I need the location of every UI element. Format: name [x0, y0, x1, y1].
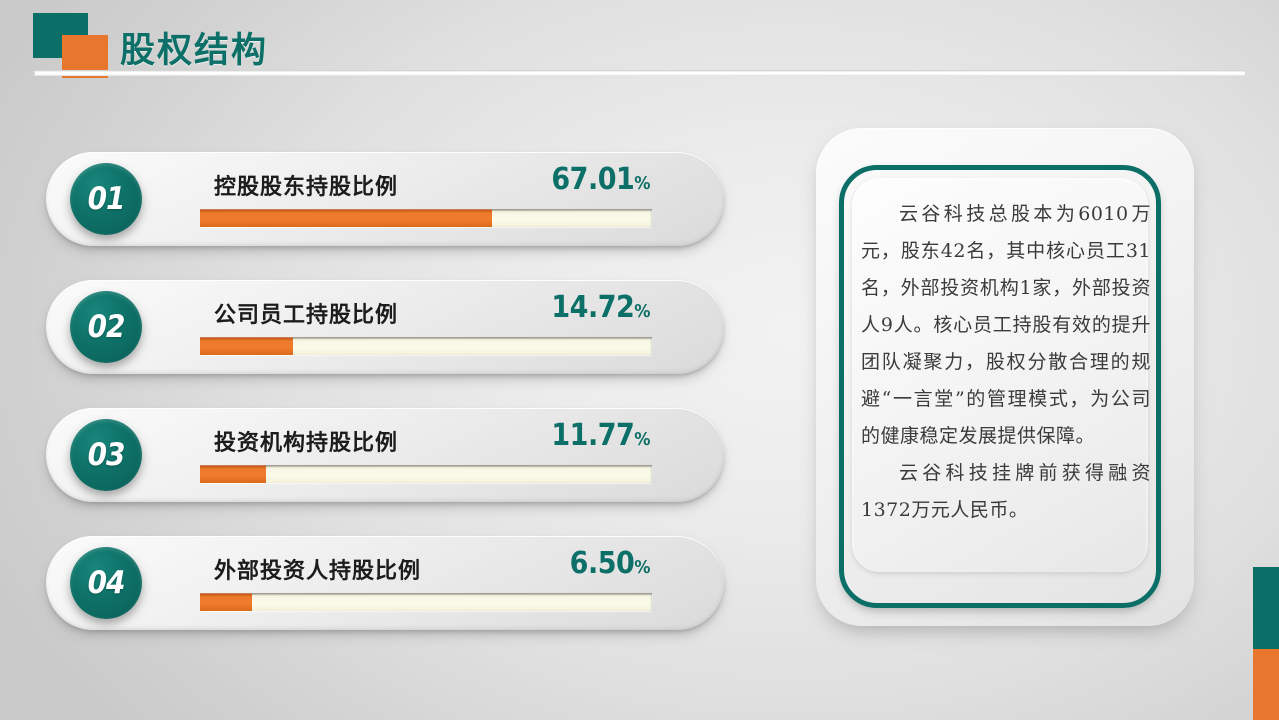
progress-track — [200, 593, 652, 611]
percent-symbol: % — [634, 557, 650, 578]
edge-block-orange-icon — [1253, 649, 1279, 720]
list-item-percent: 67.01% — [414, 162, 650, 197]
progress-fill — [200, 209, 492, 227]
progress-fill — [200, 465, 266, 483]
list-item-badge: 02 — [70, 291, 142, 363]
list-item-badge: 03 — [70, 419, 142, 491]
list-item-label: 公司员工持股比例 — [214, 297, 398, 329]
list-item[interactable]: 02 公司员工持股比例 14.72% — [46, 280, 736, 380]
list-item[interactable]: 04 外部投资人持股比例 6.50% — [46, 536, 736, 636]
edge-block-teal-icon — [1253, 567, 1279, 649]
progress-track — [200, 337, 652, 355]
list-item-percent: 6.50% — [414, 546, 650, 581]
list-item-percent: 11.77% — [414, 418, 650, 453]
header-divider-cap — [30, 71, 35, 76]
slide-canvas: 股权结构 01 控股股东持股比例 67.01% 02 公司员工持股比例 14.7… — [0, 0, 1279, 720]
percent-value: 67.01 — [551, 162, 634, 197]
list-item[interactable]: 01 控股股东持股比例 67.01% — [46, 152, 736, 252]
percent-symbol: % — [634, 429, 650, 450]
list-item-badge: 01 — [70, 163, 142, 235]
progress-track — [200, 465, 652, 483]
percent-symbol: % — [634, 173, 650, 194]
page-title: 股权结构 — [120, 22, 268, 73]
percent-value: 6.50 — [570, 546, 635, 581]
header-divider — [33, 70, 1245, 76]
info-paragraph-1: 云谷科技总股本为6010万元，股东42名，其中核心员工31名，外部投资机构1家，… — [861, 196, 1151, 455]
progress-track — [200, 209, 652, 227]
list-item[interactable]: 03 投资机构持股比例 11.77% — [46, 408, 736, 508]
info-panel-text: 云谷科技总股本为6010万元，股东42名，其中核心员工31名，外部投资机构1家，… — [861, 196, 1151, 529]
list-item-badge: 04 — [70, 547, 142, 619]
progress-fill — [200, 593, 252, 611]
list-item-percent: 14.72% — [414, 290, 650, 325]
list-item-label: 外部投资人持股比例 — [214, 553, 421, 585]
percent-value: 14.72 — [551, 290, 634, 325]
info-paragraph-2: 云谷科技挂牌前获得融资1372万元人民币。 — [861, 455, 1151, 529]
percent-symbol: % — [634, 301, 650, 322]
progress-fill — [200, 337, 293, 355]
percent-value: 11.77 — [551, 418, 634, 453]
list-item-label: 投资机构持股比例 — [214, 425, 398, 457]
list-item-label: 控股股东持股比例 — [214, 169, 398, 201]
shareholding-list: 01 控股股东持股比例 67.01% 02 公司员工持股比例 14.72% 03… — [46, 152, 736, 664]
